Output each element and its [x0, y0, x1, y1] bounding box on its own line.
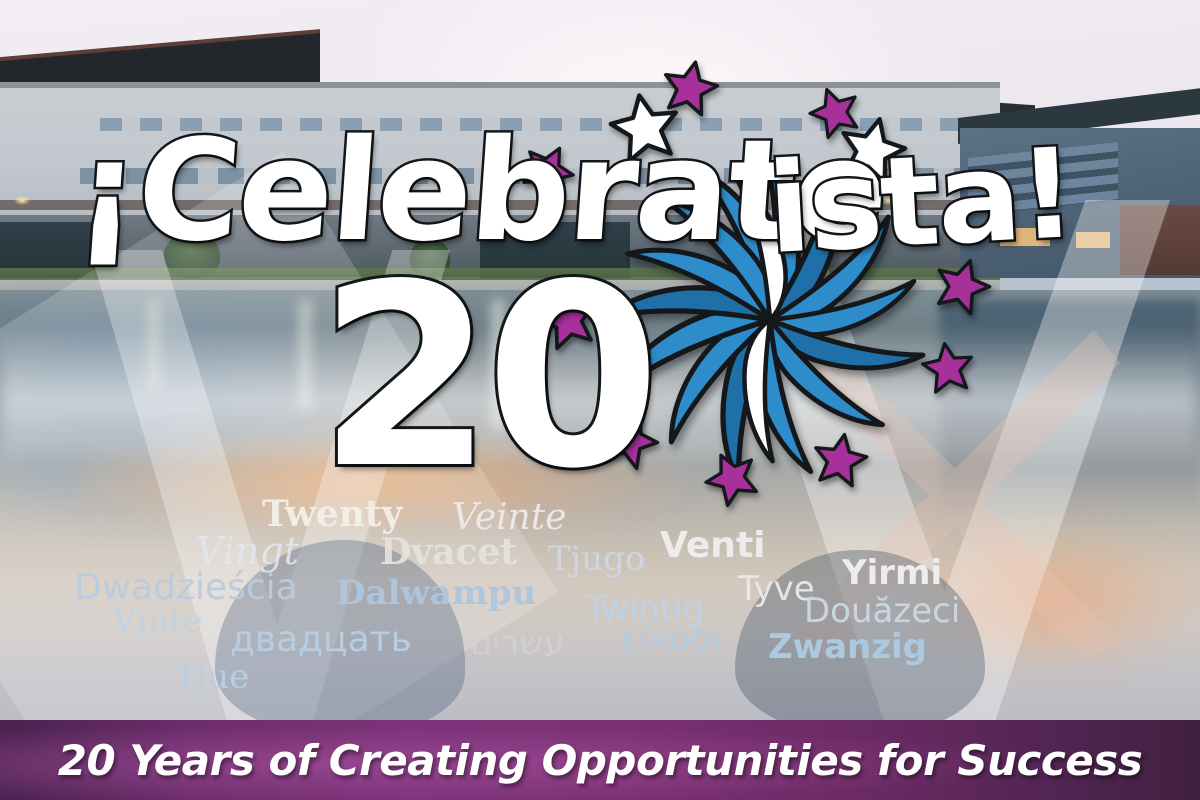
exterior-lamp	[150, 196, 166, 205]
lit-window	[1076, 232, 1110, 248]
firework-burst-icon	[560, 70, 980, 500]
pond-sunset-glow	[880, 520, 1200, 680]
tagline-banner: 20 Years of Creating Opportunities for S…	[0, 720, 1200, 800]
celebrate-vista-poster: ¡Celebrate ista! 20 TwentyVeinteVingtDva…	[0, 0, 1200, 800]
exterior-lamp	[292, 196, 308, 205]
right-building-brick	[1120, 205, 1200, 275]
exterior-lamp	[14, 196, 30, 205]
exterior-lamp	[438, 196, 454, 205]
tagline-text: 20 Years of Creating Opportunities for S…	[0, 720, 1200, 800]
lit-window	[1000, 228, 1050, 246]
